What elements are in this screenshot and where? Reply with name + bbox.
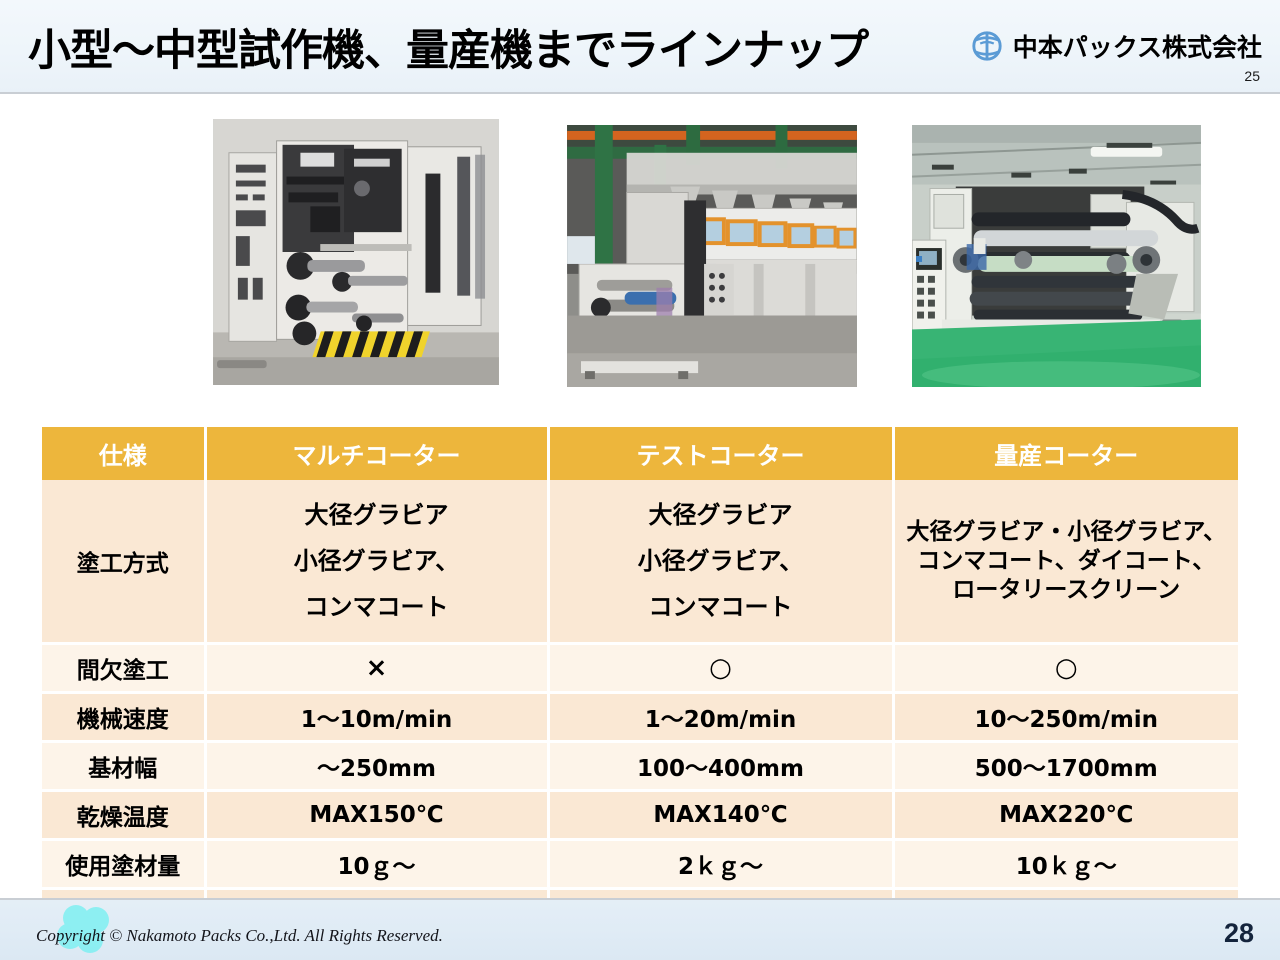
row-label-drying-temperature: 乾燥温度 (42, 791, 205, 840)
company-brand: 中本パックス株式会社 (970, 28, 1262, 64)
page-number: 28 (1224, 918, 1254, 949)
slide-header: 小型～中型試作機、量産機までラインナップ 中本パックス株式会社 25 (0, 0, 1280, 94)
header-page-label: 25 (1244, 68, 1260, 84)
cell-coating-method-test: 大径グラビア 小径グラビア、 コンマコート (548, 480, 893, 644)
company-name: 中本パックス株式会社 (1013, 28, 1262, 64)
cell-temp-mass: MAX220℃ (893, 791, 1238, 840)
cell-width-mass: 500～1700mm (893, 742, 1238, 791)
table-header-row: 仕様 マルチコーター テストコーター 量産コーター (42, 427, 1238, 480)
photo-test-coater (566, 124, 858, 388)
column-header-test-coater: テストコーター (548, 427, 893, 480)
table-row: 基材幅 ～250mm 100～400mm 500～1700mm (42, 742, 1238, 791)
cell-amount-test: 2ｋｇ～ (548, 840, 893, 889)
column-header-mass-coater: 量産コーター (893, 427, 1238, 480)
row-label-intermittent-coating: 間欠塗工 (42, 644, 205, 693)
cell-coating-method-mass: 大径グラビア・小径グラビア、 コンマコート、ダイコート、 ロータリースクリーン (893, 480, 1238, 644)
row-label-machine-speed: 機械速度 (42, 693, 205, 742)
row-label-coating-method: 塗工方式 (42, 480, 205, 644)
column-header-spec: 仕様 (42, 427, 205, 480)
page-title: 小型～中型試作機、量産機までラインナップ (28, 16, 868, 78)
cell-speed-mass: 10～250m/min (893, 693, 1238, 742)
cell-amount-multi: 10ｇ～ (205, 840, 548, 889)
row-label-substrate-width: 基材幅 (42, 742, 205, 791)
cell-temp-test: MAX140℃ (548, 791, 893, 840)
table-row: 塗工方式 大径グラビア 小径グラビア、 コンマコート 大径グラビア 小径グラビア… (42, 480, 1238, 644)
cell-speed-multi: 1～10m/min (205, 693, 548, 742)
cell-speed-test: 1～20m/min (548, 693, 893, 742)
cell-coating-method-multi: 大径グラビア 小径グラビア、 コンマコート (205, 480, 548, 644)
slide: 小型～中型試作機、量産機までラインナップ 中本パックス株式会社 25 (0, 0, 1280, 960)
cell-intermittent-test: ○ (548, 644, 893, 693)
cell-intermittent-mass: ○ (893, 644, 1238, 693)
table-row: 使用塗材量 10ｇ～ 2ｋｇ～ 10ｋｇ～ (42, 840, 1238, 889)
photo-strip (0, 118, 1280, 390)
slide-footer: Copyright © Nakamoto Packs Co.,Ltd. All … (0, 898, 1280, 960)
spec-table: 仕様 マルチコーター テストコーター 量産コーター 塗工方式 大径グラビア 小径… (42, 427, 1238, 939)
cell-amount-mass: 10ｋｇ～ (893, 840, 1238, 889)
cell-width-multi: ～250mm (205, 742, 548, 791)
cell-temp-multi: MAX150℃ (205, 791, 548, 840)
globe-emblem-icon (970, 29, 1004, 63)
cell-intermittent-multi: × (205, 644, 548, 693)
cell-width-test: 100～400mm (548, 742, 893, 791)
column-header-multi-coater: マルチコーター (205, 427, 548, 480)
row-label-coating-amount: 使用塗材量 (42, 840, 205, 889)
table-row: 乾燥温度 MAX150℃ MAX140℃ MAX220℃ (42, 791, 1238, 840)
photo-multi-coater (212, 118, 500, 386)
table-row: 機械速度 1～10m/min 1～20m/min 10～250m/min (42, 693, 1238, 742)
copyright-text: Copyright © Nakamoto Packs Co.,Ltd. All … (36, 926, 443, 946)
photo-mass-production-coater (911, 124, 1202, 388)
table-row: 間欠塗工 × ○ ○ (42, 644, 1238, 693)
